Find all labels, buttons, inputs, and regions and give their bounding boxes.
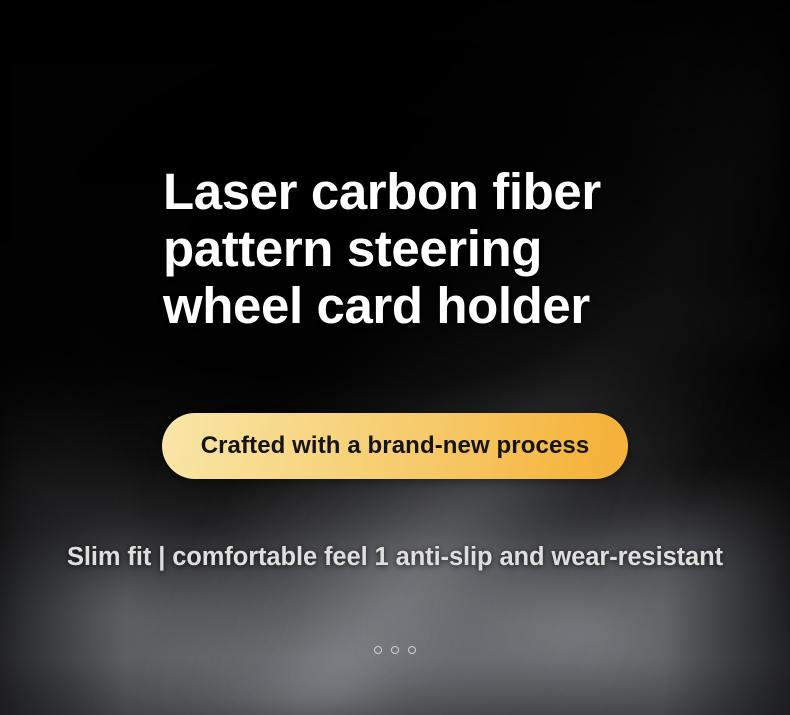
product-hero-banner: Laser carbon fiber pattern steering whee… <box>0 0 790 715</box>
headline-line-3: wheel card holder <box>163 277 683 334</box>
feature-subtitle: Slim fit | comfortable feel 1 anti-slip … <box>0 543 790 572</box>
headline-line-2: pattern steering <box>163 220 683 277</box>
carousel-dots[interactable] <box>0 646 790 654</box>
crafted-process-cta-button[interactable]: Crafted with a brand-new process <box>162 413 628 479</box>
carousel-dot-2[interactable] <box>391 646 399 654</box>
carousel-dot-3[interactable] <box>408 646 416 654</box>
banner-content: Laser carbon fiber pattern steering whee… <box>0 0 790 715</box>
carousel-dot-1[interactable] <box>374 646 382 654</box>
headline-line-1: Laser carbon fiber <box>163 163 683 220</box>
headline: Laser carbon fiber pattern steering whee… <box>163 163 683 334</box>
